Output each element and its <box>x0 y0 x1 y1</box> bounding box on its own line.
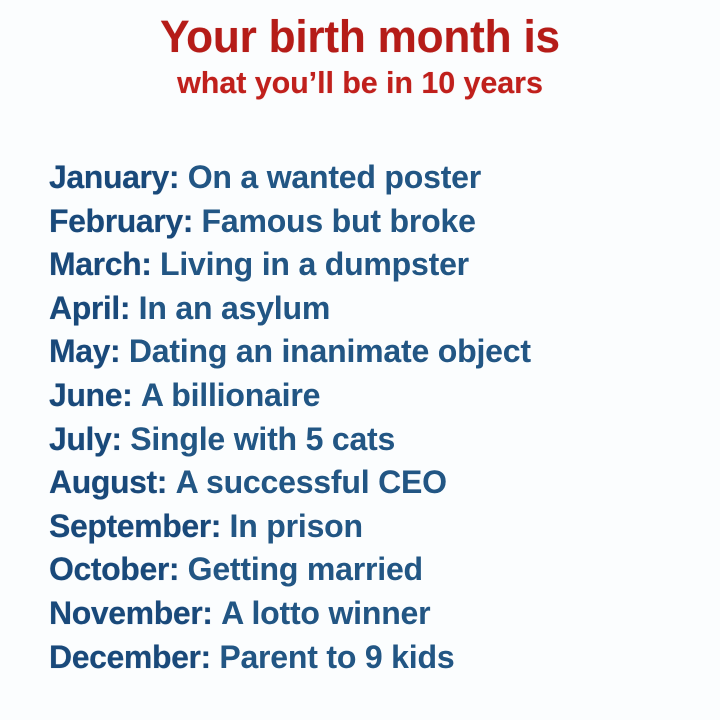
list-item: April: In an asylum <box>49 287 709 331</box>
month-label: December: <box>49 639 219 675</box>
month-label: May: <box>49 333 129 369</box>
month-label: July: <box>49 421 130 457</box>
list-item: October: Getting married <box>49 548 709 592</box>
month-label: January: <box>49 159 188 195</box>
month-label: March: <box>49 246 160 282</box>
month-description: On a wanted poster <box>188 159 481 195</box>
month-description: A lotto winner <box>221 595 430 631</box>
meme-image: Your birth month is what you’ll be in 10… <box>0 0 720 720</box>
month-description: A successful CEO <box>176 464 447 500</box>
list-item: January: On a wanted poster <box>49 156 709 200</box>
month-label: February: <box>49 203 202 239</box>
list-item: June: A billionaire <box>49 374 709 418</box>
list-item: November: A lotto winner <box>49 592 709 636</box>
list-item: July: Single with 5 cats <box>49 418 709 462</box>
list-item: March: Living in a dumpster <box>49 243 709 287</box>
list-item: December: Parent to 9 kids <box>49 636 709 680</box>
month-description: Single with 5 cats <box>130 421 395 457</box>
month-label: September: <box>49 508 230 544</box>
month-label: October: <box>49 551 188 587</box>
page-title: Your birth month is <box>7 12 713 62</box>
page-subtitle: what you’ll be in 10 years <box>5 64 714 102</box>
month-label: June: <box>49 377 141 413</box>
month-label: November: <box>49 595 221 631</box>
month-description: A billionaire <box>141 377 320 413</box>
month-description: Living in a dumpster <box>160 246 469 282</box>
month-description: In an asylum <box>139 290 330 326</box>
list-item: February: Famous but broke <box>49 200 709 244</box>
month-label: April: <box>49 290 139 326</box>
month-description: In prison <box>230 508 363 544</box>
list-item: August: A successful CEO <box>49 461 709 505</box>
list-item: September: In prison <box>49 505 709 549</box>
list-item: May: Dating an inanimate object <box>49 330 709 374</box>
header-block: Your birth month is what you’ll be in 10… <box>0 12 720 102</box>
month-label: August: <box>49 464 176 500</box>
month-description: Getting married <box>188 551 423 587</box>
month-description: Famous but broke <box>202 203 476 239</box>
month-description: Parent to 9 kids <box>219 639 454 675</box>
month-description: Dating an inanimate object <box>129 333 531 369</box>
month-prediction-list: January: On a wanted poster February: Fa… <box>49 156 709 679</box>
